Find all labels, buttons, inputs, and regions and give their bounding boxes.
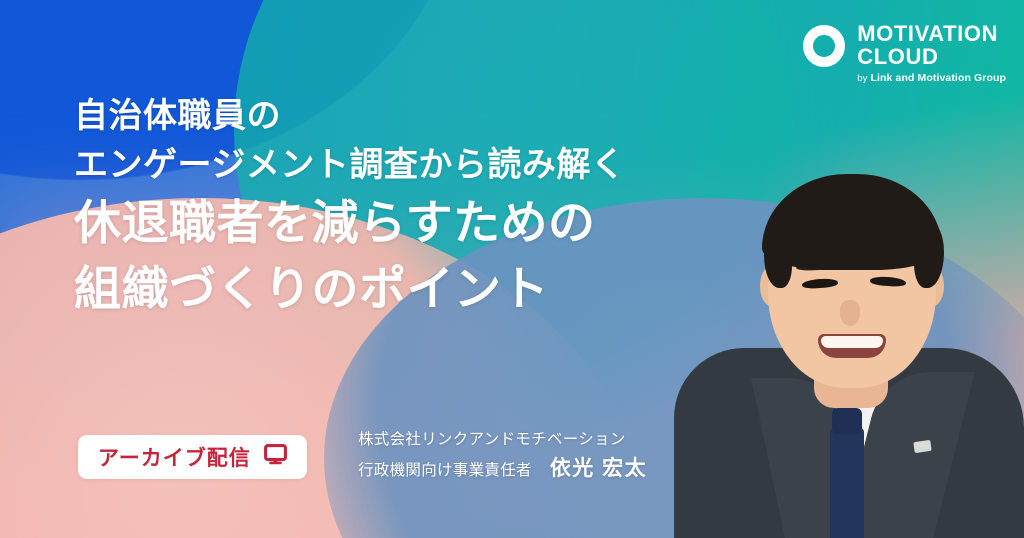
webinar-banner: MOTIVATION CLOUD by Link and Motivation … [0,0,1024,538]
teeth [821,336,883,348]
headline-line-3: 休退職者を減らすための [74,190,625,256]
lapel-pin [913,440,931,453]
headline-line-4: 組織づくりのポイント [74,256,625,322]
mouth [818,334,886,358]
logo-line-1: MOTIVATION [857,22,1006,45]
speaker-company: 株式会社リンクアンドモチベーション [358,428,647,452]
hair [762,174,942,270]
speaker-name: 依光 宏太 [550,452,647,482]
nose [840,300,860,326]
logo-tagline-text: Link and Motivation Group [871,72,1007,84]
logo-line-2: CLOUD [857,45,1006,68]
archive-delivery-badge[interactable]: アーカイブ配信 [78,435,307,479]
monitor-icon [264,444,287,470]
ring-logo-icon [803,25,845,67]
headline-line-1: 自治体職員の [74,92,625,141]
logo-wordmark: MOTIVATION CLOUD by Link and Motivation … [857,22,1006,84]
speaker-title-and-name: 行政機関向け事業責任者 依光 宏太 [358,452,647,484]
necktie-knot [832,408,862,434]
speaker-title: 行政機関向け事業責任者 [358,458,532,484]
headline: 自治体職員の エンゲージメント調査から読み解く 休退職者を減らすための 組織づく… [74,92,625,322]
badge-label: アーカイブ配信 [98,442,251,472]
motivation-cloud-logo: MOTIVATION CLOUD by Link and Motivation … [803,22,1006,84]
headline-line-2: エンゲージメント調査から読み解く [74,141,625,190]
speaker-photo [664,138,1024,538]
speaker-info: 株式会社リンクアンドモチベーション 行政機関向け事業責任者 依光 宏太 [358,428,647,484]
logo-tagline-by: by [857,73,867,84]
logo-tagline: by Link and Motivation Group [857,72,1006,84]
necktie [830,428,864,538]
